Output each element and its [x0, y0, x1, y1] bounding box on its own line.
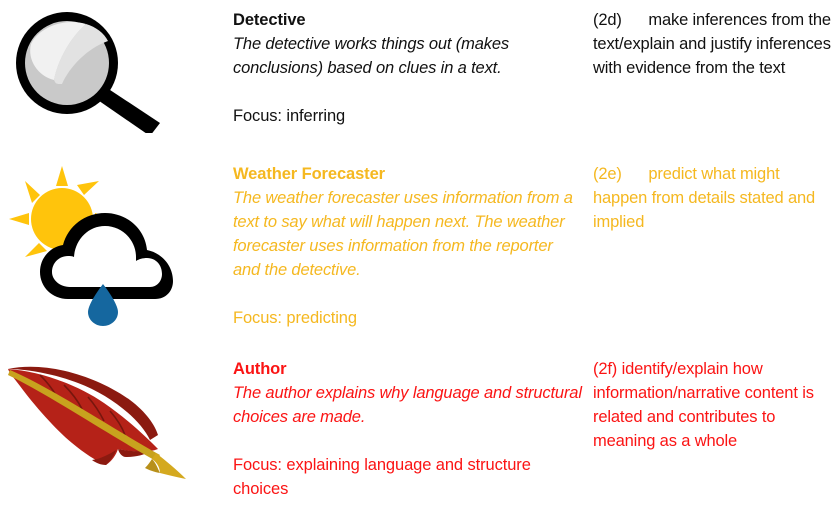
curriculum-code-author: (2f) identify/explain how information/na…: [593, 357, 833, 453]
role-focus: Focus: inferring: [233, 104, 583, 128]
curriculum-code-text: (2e) predict what might happen from deta…: [593, 162, 833, 234]
curriculum-code-text: (2d) make inferences from the text/expla…: [593, 8, 833, 80]
spacer: [233, 80, 583, 104]
role-title: Author: [233, 357, 583, 381]
curriculum-code-text: (2f) identify/explain how information/na…: [593, 357, 833, 453]
role-title: Detective: [233, 8, 583, 32]
role-focus: Focus: predicting: [233, 306, 583, 330]
sun-cloud-rain-icon: [0, 162, 225, 327]
magnifying-glass-icon: [0, 8, 225, 133]
curriculum-code-detective: (2d) make inferences from the text/expla…: [593, 8, 833, 80]
reading-roles-chart: Detective The detective works things out…: [0, 0, 840, 521]
role-description: The author explains why language and str…: [233, 381, 583, 429]
curriculum-code-weather-forecaster: (2e) predict what might happen from deta…: [593, 162, 833, 234]
spacer: [233, 282, 583, 306]
icon-cell-author: [0, 357, 225, 487]
role-text-detective: Detective The detective works things out…: [233, 8, 583, 128]
role-text-author: Author The author explains why language …: [233, 357, 583, 501]
role-description: The detective works things out (makes co…: [233, 32, 583, 80]
icon-cell-weather: [0, 162, 225, 327]
role-description: The weather forecaster uses information …: [233, 186, 583, 282]
role-title: Weather Forecaster: [233, 162, 583, 186]
role-text-weather-forecaster: Weather Forecaster The weather forecaste…: [233, 162, 583, 330]
spacer: [233, 429, 583, 453]
feather-quill-icon: [0, 357, 225, 487]
icon-cell-detective: [0, 8, 225, 133]
role-focus: Focus: explaining language and structure…: [233, 453, 583, 501]
